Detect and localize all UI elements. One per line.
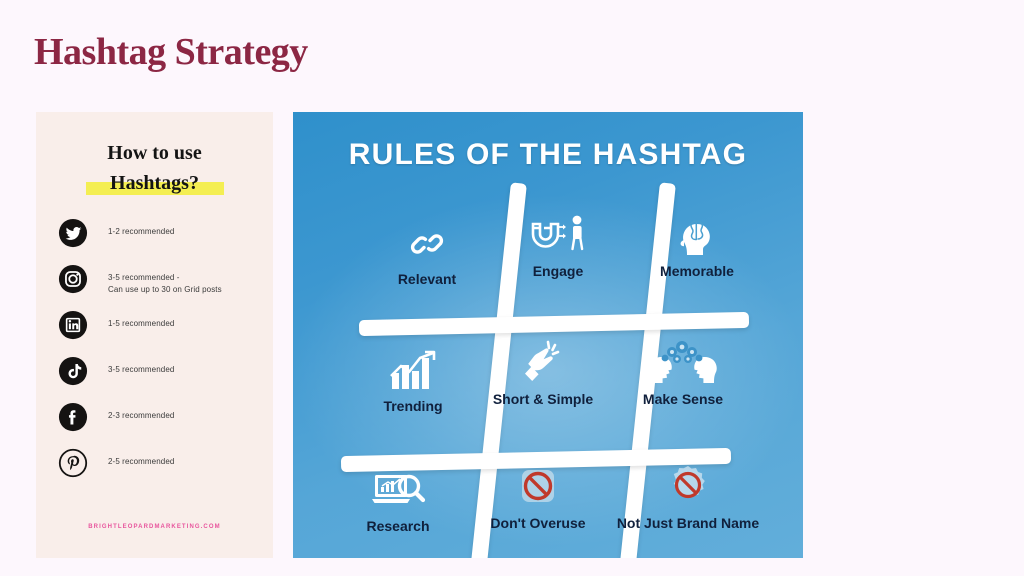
facebook-icon — [58, 402, 88, 432]
rule-label: Short & Simple — [483, 391, 603, 407]
tiktok-icon — [58, 356, 88, 386]
rule-label: Research — [333, 518, 463, 534]
hashtag-bar-horizontal-top — [359, 312, 749, 336]
rule-cell-dont-overuse: Don't Overuse — [458, 464, 618, 531]
rule-cell-trending: Trending — [353, 347, 473, 414]
list-item: 2-5 recommended — [58, 446, 273, 492]
rule-cell-relevant: Relevant — [367, 220, 487, 287]
rule-cell-research: Research — [333, 467, 463, 534]
snapping-fingers-icon — [483, 340, 603, 384]
prohibition-icon — [458, 464, 618, 508]
list-item-note: Can use up to 30 on Grid posts — [108, 284, 222, 296]
list-item-text: 3-5 recommended — [108, 354, 174, 376]
two-heads-gears-icon — [613, 340, 753, 384]
list-item-text: 1-5 recommended — [108, 308, 174, 330]
infographic-title: RULES OF THE HASHTAG — [293, 138, 803, 172]
magnet-person-icon — [498, 212, 618, 256]
panel-heading-line-1: How to use — [36, 143, 273, 164]
list-item: 2-3 recommended — [58, 400, 273, 446]
list-item-text: 2-5 recommended — [108, 446, 174, 468]
panel-heading-line-2-wrapper: Hashtags? — [36, 173, 273, 194]
how-to-use-hashtags-panel: How to use Hashtags? 1-2 recommended — [36, 112, 273, 558]
rule-cell-engage: Engage — [498, 212, 618, 279]
list-item: 3-5 recommended - Can use up to 30 on Gr… — [58, 262, 273, 308]
head-brain-icon — [629, 212, 765, 256]
bar-chart-trend-icon — [353, 347, 473, 391]
rule-label: Engage — [498, 263, 618, 279]
rule-label: Make Sense — [613, 391, 753, 407]
list-item: 3-5 recommended — [58, 354, 273, 400]
rule-cell-not-just-brand-name: Not Just Brand Name — [608, 464, 768, 531]
list-item: 1-5 recommended — [58, 308, 273, 354]
list-item-text: 1-2 recommended — [108, 216, 174, 238]
twitter-icon — [58, 218, 88, 248]
rule-cell-memorable: Memorable — [629, 212, 765, 279]
rule-cell-make-sense: Make Sense — [613, 340, 753, 407]
prohibition-badge-icon — [608, 464, 768, 508]
rule-cell-short-simple: Short & Simple — [483, 340, 603, 407]
social-platform-list: 1-2 recommended 3-5 recommended - Can us… — [36, 216, 273, 492]
rule-label: Memorable — [629, 263, 765, 279]
list-item-text: 2-3 recommended — [108, 400, 174, 422]
panel-footer-url: BRIGHTLEOPARDMARKETING.COM — [36, 524, 273, 530]
slide-canvas: Hashtag Strategy How to use Hashtags? 1-… — [0, 0, 1024, 576]
rule-label: Not Just Brand Name — [608, 515, 768, 531]
list-item-text: 3-5 recommended - Can use up to 30 on Gr… — [108, 262, 222, 295]
panel-heading-line-2: Hashtags? — [106, 173, 203, 194]
rule-label: Relevant — [367, 271, 487, 287]
instagram-icon — [58, 264, 88, 294]
laptop-magnifier-icon — [333, 467, 463, 511]
pinterest-icon — [58, 448, 88, 478]
rule-label: Don't Overuse — [458, 515, 618, 531]
list-item: 1-2 recommended — [58, 216, 273, 262]
linkedin-icon — [58, 310, 88, 340]
chain-link-icon — [367, 220, 487, 264]
rules-of-the-hashtag-infographic: RULES OF THE HASHTAG Relevant — [293, 112, 803, 558]
page-title: Hashtag Strategy — [34, 30, 308, 74]
rule-label: Trending — [353, 398, 473, 414]
